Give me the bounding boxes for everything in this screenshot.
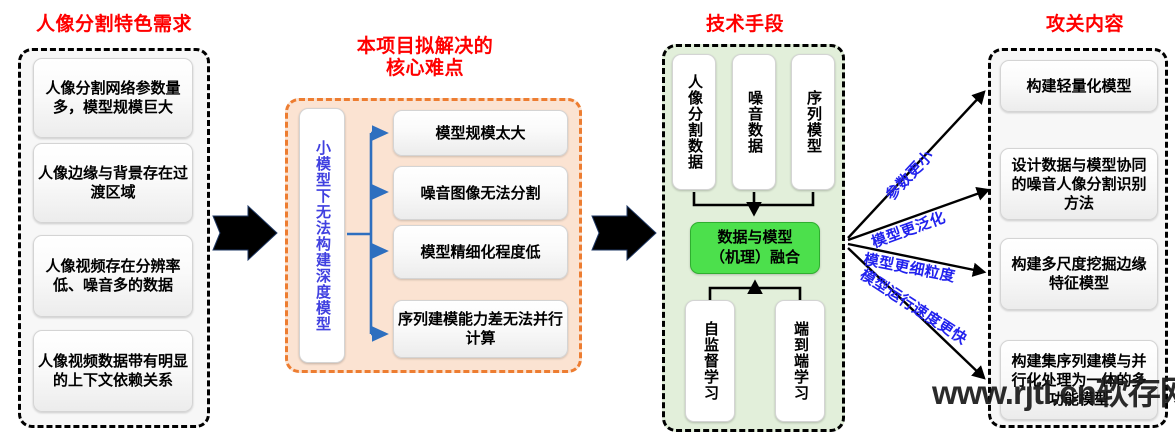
requirement-card-3[interactable]: 人像视频存在分辨率低、噪音多的数据 [33, 235, 193, 317]
flow-arrow-2 [592, 206, 656, 260]
difficulty-card-3[interactable]: 模型精细化程度低 [393, 225, 568, 279]
requirement-card-1[interactable]: 人像分割网络参数量多，模型规模巨大 [33, 58, 193, 138]
research-card-2[interactable]: 设计数据与模型协同的噪音人像分割识别方法 [1000, 148, 1158, 220]
core-difficulties-source[interactable]: 小模型下无法构建深度模型 [299, 108, 345, 363]
column-title-research-content: 攻关内容 [1000, 14, 1170, 36]
difficulty-card-2[interactable]: 噪音图像无法分割 [393, 166, 568, 220]
benefit-label-1: 参数更小 [880, 145, 938, 205]
column-title-technical-means: 技术手段 [655, 14, 835, 36]
benefit-label-2: 模型更泛化 [868, 206, 948, 252]
fusion-node[interactable]: 数据与模型 （机理）融合 [690, 222, 820, 274]
column-title-core-difficulties: 本项目拟解决的 核心难点 [300, 36, 550, 80]
technical-input-2[interactable]: 噪音数据 [732, 54, 776, 190]
requirement-card-4[interactable]: 人像视频数据带有明显的上下文依赖关系 [33, 330, 193, 412]
research-card-3[interactable]: 构建多尺度挖掘边缘特征模型 [1000, 238, 1158, 310]
diagram-canvas: 人像分割特色需求 人像分割网络参数量多，模型规模巨大 人像边缘与背景存在过渡区域… [0, 0, 1175, 439]
technical-method-1[interactable]: 自监督学习 [685, 300, 735, 422]
requirement-card-2[interactable]: 人像边缘与背景存在过渡区域 [33, 143, 193, 223]
technical-input-1[interactable]: 人像分割数据 [672, 54, 716, 190]
technical-method-2[interactable]: 端到端学习 [775, 300, 825, 422]
technical-input-3[interactable]: 序列模型 [791, 54, 835, 190]
difficulty-card-1[interactable]: 模型规模太大 [393, 110, 568, 156]
watermark-text: www.rjtl.cn软存网 [932, 366, 1175, 414]
flow-arrow-1 [213, 206, 277, 260]
research-card-1[interactable]: 构建轻量化模型 [1000, 60, 1158, 112]
difficulty-card-4[interactable]: 序列建模能力差无法并行计算 [393, 300, 568, 358]
column-title-requirements: 人像分割特色需求 [10, 14, 218, 36]
